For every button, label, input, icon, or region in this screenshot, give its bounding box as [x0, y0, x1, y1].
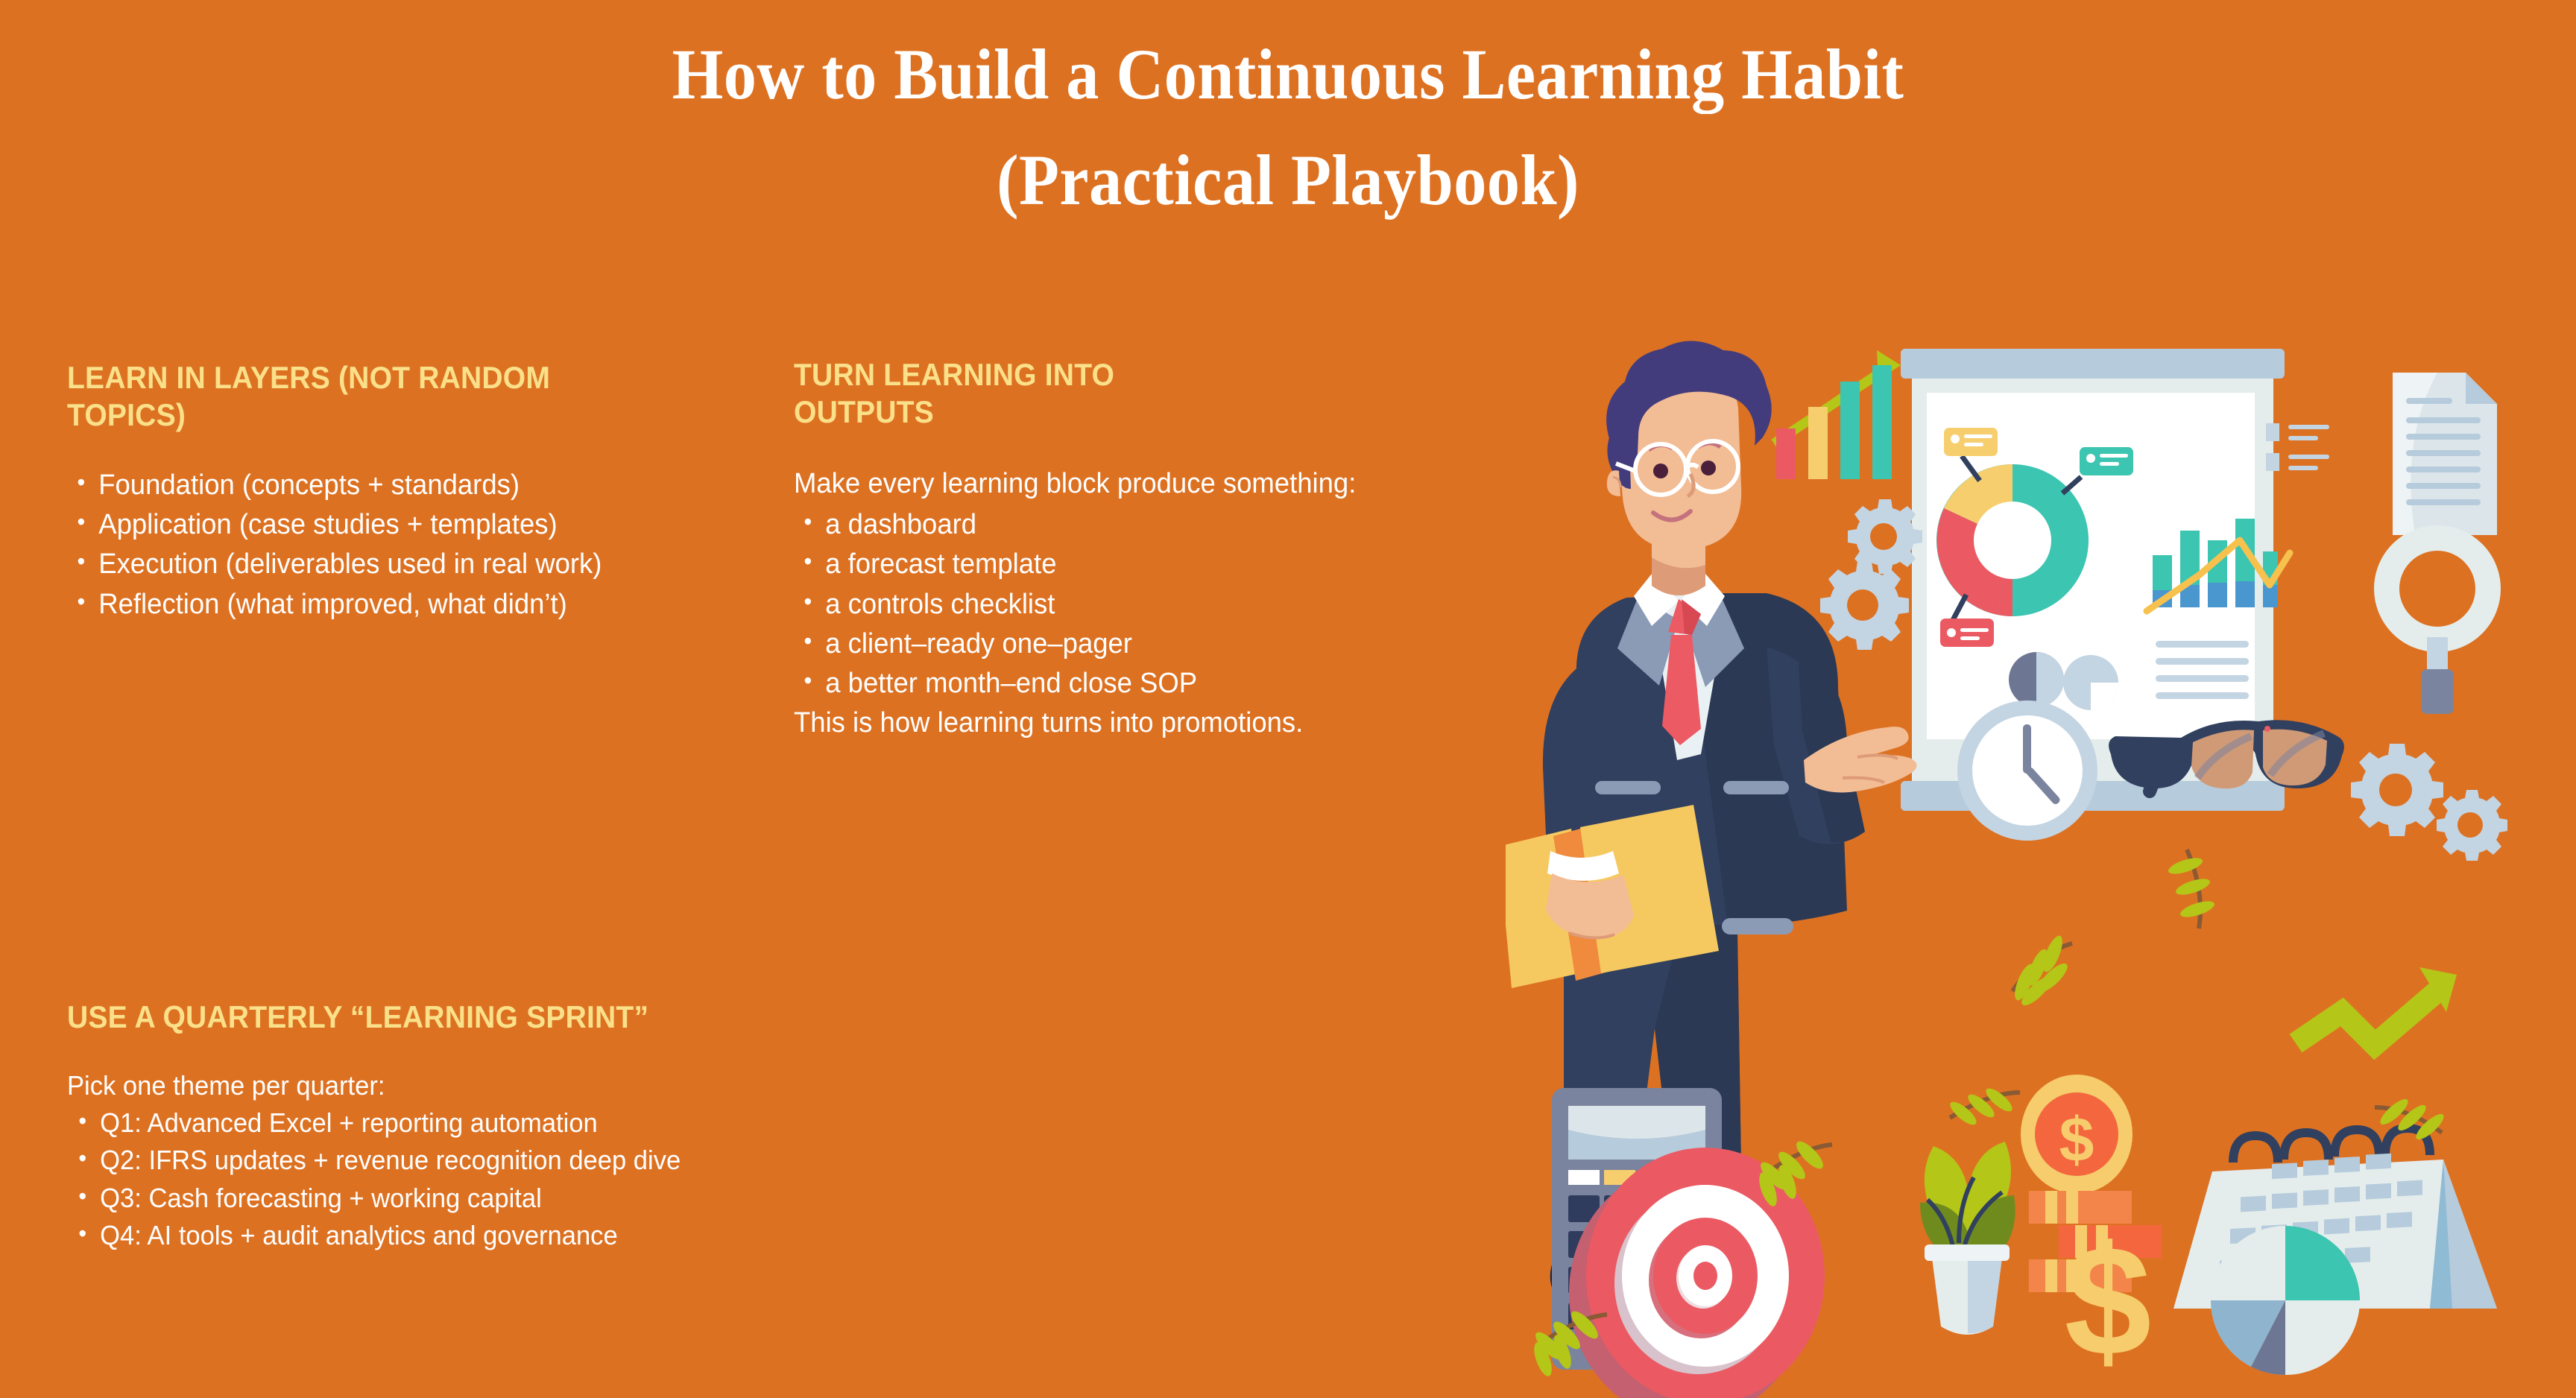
section-turn-learning-into-outputs: TURN LEARNING INTO OUTPUTS Make every le… — [794, 356, 1412, 743]
svg-text:$: $ — [2059, 1104, 2094, 1174]
list-item: Reflection (what improved, what didn’t) — [67, 585, 661, 624]
sprint-bullet-list: Q1: Advanced Excel + reporting automatio… — [67, 1104, 1011, 1255]
list-item: Application (case studies + templates) — [67, 505, 661, 545]
legend-label-yellow — [1944, 428, 1998, 456]
outputs-outro: This is how learning turns into promotio… — [794, 703, 1388, 743]
list-item: Foundation (concepts + standards) — [67, 466, 661, 505]
layers-bullet-list: Foundation (concepts + standards) Applic… — [67, 466, 661, 624]
outputs-bullet-list: a dashboard a forecast template a contro… — [794, 505, 1388, 703]
leaf-icon — [2011, 934, 2072, 1010]
leaf-icon — [1947, 1085, 2020, 1129]
section-body-outputs: Make every learning block produce someth… — [794, 464, 1388, 743]
section-heading-sprint: USE A QUARTERLY “LEARNING SPRINT” — [67, 999, 982, 1036]
leaf-icon — [2167, 850, 2217, 929]
svg-text:$: $ — [2065, 1213, 2152, 1388]
section-learn-in-layers: LEARN IN LAYERS (NOT RANDOM TOPICS) Foun… — [67, 359, 686, 624]
legend-label-red — [1940, 619, 1994, 647]
section-body-sprint: Pick one theme per quarter: Q1: Advanced… — [67, 1067, 1011, 1255]
pie-chart-icon — [2211, 1226, 2360, 1375]
list-item: Execution (deliverables used in real wor… — [67, 545, 661, 584]
outputs-intro: Make every learning block produce someth… — [794, 464, 1388, 504]
bar-chart-icon — [1776, 365, 1892, 479]
title-line-2: (Practical Playbook) — [103, 145, 2473, 216]
board-list-stubs — [2266, 423, 2329, 471]
mini-pie-light-icon — [2063, 655, 2118, 710]
gear-icon — [2351, 744, 2443, 836]
list-item: Q3: Cash forecasting + working capital — [67, 1180, 1011, 1217]
dollar-sign-icon: $ — [2065, 1213, 2152, 1388]
section-heading-layers: LEARN IN LAYERS (NOT RANDOM TOPICS) — [67, 359, 552, 433]
section-body-layers: Foundation (concepts + standards) Applic… — [67, 466, 661, 624]
list-item: a forecast template — [794, 545, 1388, 584]
leaf-icon — [1755, 1137, 1832, 1208]
list-item: Q1: Advanced Excel + reporting automatio… — [67, 1104, 1011, 1142]
title-line-1: How to Build a Continuous Learning Habit — [103, 39, 2473, 110]
list-item: a dashboard — [794, 505, 1388, 545]
magnifier-icon — [2387, 538, 2488, 714]
section-heading-outputs: TURN LEARNING INTO OUTPUTS — [794, 356, 1251, 430]
mini-pie-dark-icon — [2009, 652, 2064, 707]
gear-icon — [1820, 561, 1909, 650]
clock-icon — [1957, 700, 2097, 841]
page-title: How to Build a Continuous Learning Habit… — [0, 39, 2576, 216]
potted-plant-icon — [1920, 1142, 2015, 1335]
list-item: a client–ready one–pager — [794, 624, 1388, 664]
infographic-canvas: How to Build a Continuous Learning Habit… — [0, 0, 2576, 1398]
gear-icon — [2437, 790, 2507, 861]
legend-label-teal — [2080, 447, 2133, 475]
business-presentation-illustration: $ — [1506, 298, 2576, 1398]
section-quarterly-learning-sprint: USE A QUARTERLY “LEARNING SPRINT” Pick o… — [67, 999, 1051, 1255]
list-item: Q4: AI tools + audit analytics and gover… — [67, 1217, 1011, 1254]
sprint-intro: Pick one theme per quarter: — [67, 1067, 1011, 1104]
document-icon — [2393, 373, 2497, 535]
growth-arrow-icon — [2296, 967, 2457, 1045]
coin-dollar-icon: $ — [2021, 1075, 2133, 1194]
list-item: Q2: IFRS updates + revenue recognition d… — [67, 1142, 1011, 1179]
list-item: a controls checklist — [794, 585, 1388, 624]
list-item: a better month–end close SOP — [794, 664, 1388, 703]
